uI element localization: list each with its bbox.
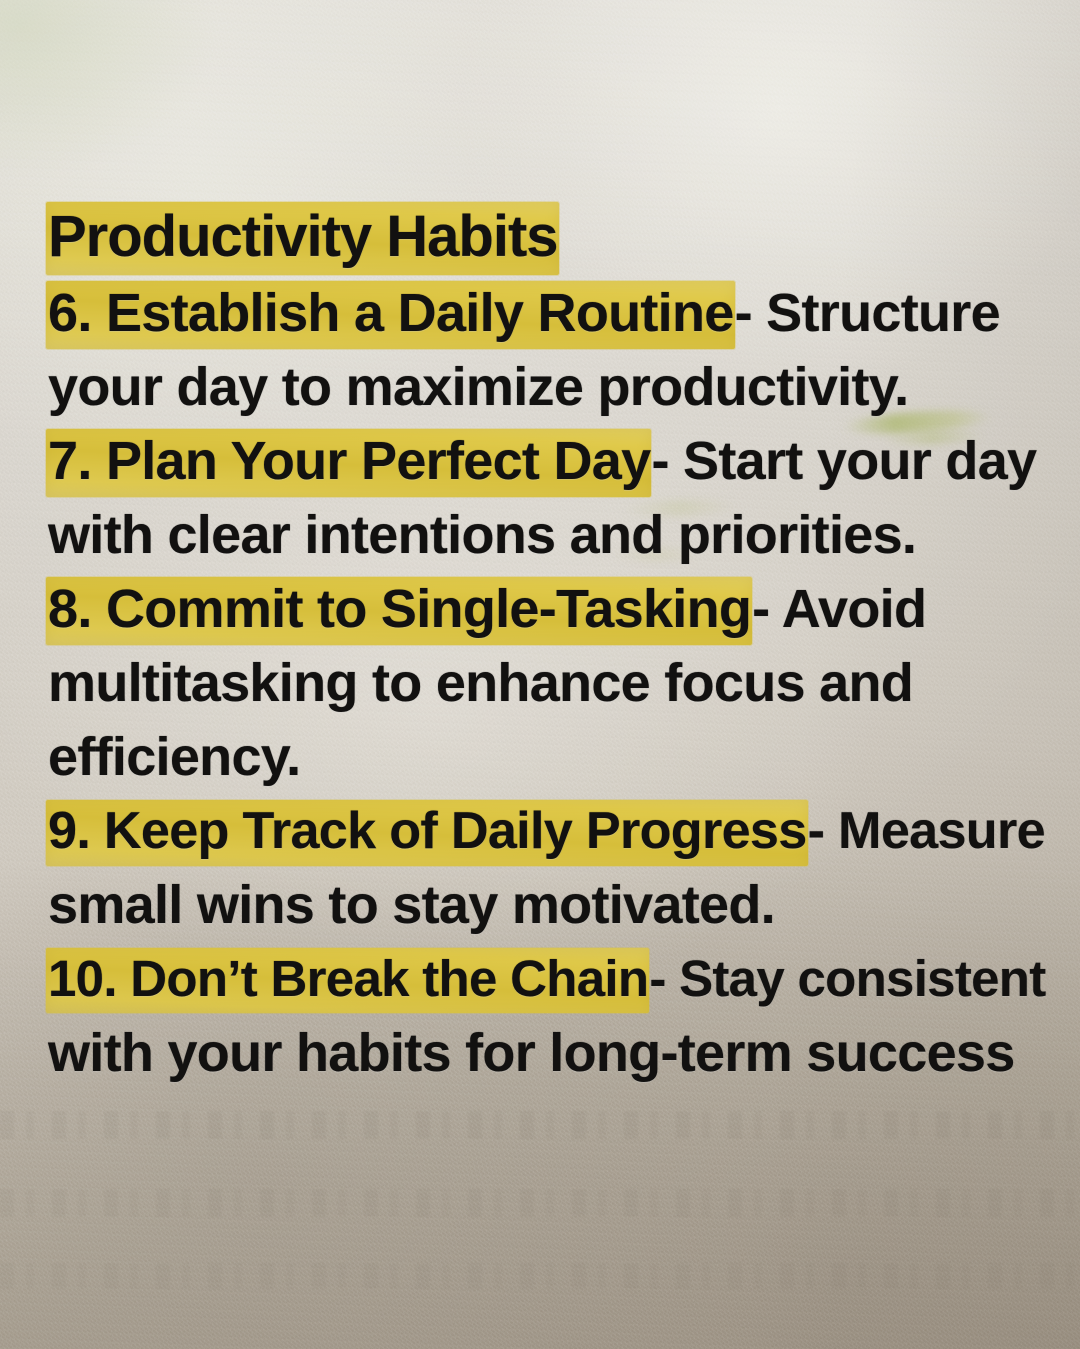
list-item-9-rest: - Measure (808, 802, 1045, 860)
list-item-9-highlight: 9. Keep Track of Daily Progress (46, 800, 808, 866)
list-item-10-highlight: 10. Don’t Break the Chain (46, 948, 649, 1013)
list-item-6-rest: - Structure (735, 283, 1000, 343)
note-page: Productivity Habits 6. Establish a Daily… (0, 0, 1080, 1349)
list-item-7-rest: - Start your day (651, 431, 1036, 491)
page-title-highlight: Productivity Habits (46, 202, 559, 275)
list-item-10-rest: - Stay consistent (649, 950, 1045, 1007)
list-item-6-line-2: your day to maximize productivity. (48, 350, 1048, 424)
note-text-block: Productivity Habits 6. Establish a Daily… (48, 198, 1048, 1090)
list-item-10-line-1: 10. Don’t Break the Chain- Stay consiste… (48, 942, 1048, 1016)
list-item-7-line-2: with clear intentions and priorities. (48, 498, 1048, 572)
list-item-8-line-3: efficiency. (48, 720, 1048, 794)
list-item-8-line-2: multitasking to enhance focus and (48, 646, 1048, 720)
page-title: Productivity Habits (48, 198, 1048, 276)
list-item-6-highlight: 6. Establish a Daily Routine (46, 281, 735, 349)
list-item-8-highlight: 8. Commit to Single-Tasking (46, 577, 752, 645)
list-item-8-line-1: 8. Commit to Single-Tasking- Avoid (48, 572, 1048, 646)
list-item-9-line-1: 9. Keep Track of Daily Progress- Measure (48, 794, 1048, 868)
list-item-6-line-1: 6. Establish a Daily Routine- Structure (48, 276, 1048, 350)
list-item-8-rest: - Avoid (752, 579, 926, 639)
list-item-7-highlight: 7. Plan Your Perfect Day (46, 429, 651, 497)
list-item-9-line-2: small wins to stay motivated. (48, 868, 1048, 942)
list-item-7-line-1: 7. Plan Your Perfect Day- Start your day (48, 424, 1048, 498)
list-item-10-line-2: with your habits for long-term success (48, 1016, 1048, 1090)
